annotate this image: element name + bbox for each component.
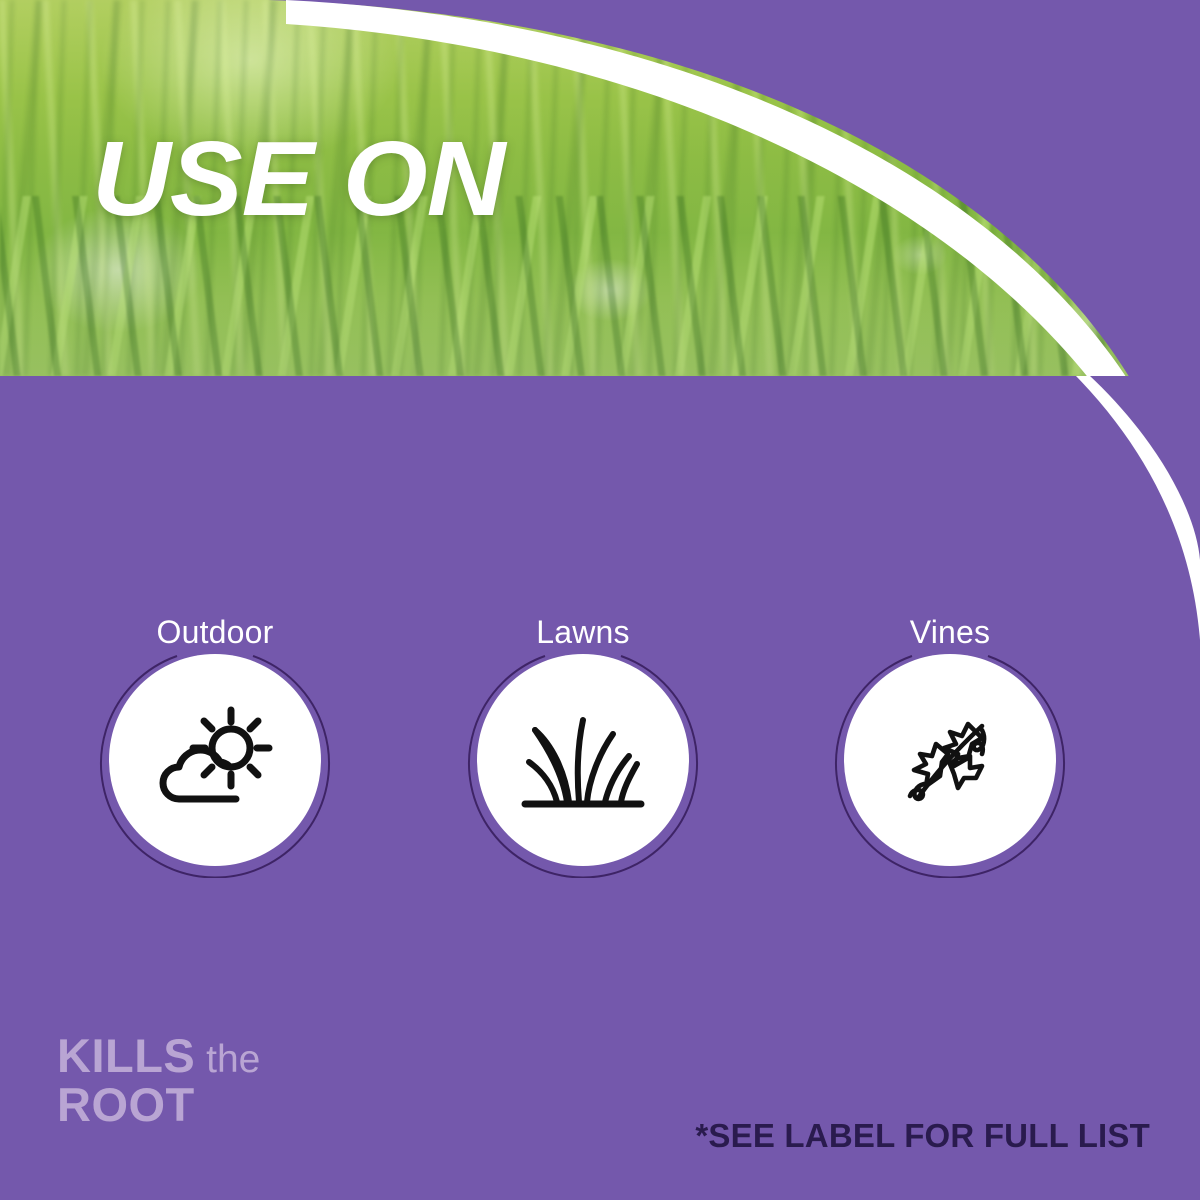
- page-title: USE ON: [92, 126, 504, 232]
- white-arc-band-lower: [1076, 376, 1200, 640]
- lawns-icon-disc: [477, 654, 689, 866]
- use-on-item-vines[interactable]: Vines: [800, 612, 1100, 892]
- grass-blades-icon: [519, 704, 647, 816]
- use-on-item-outdoor[interactable]: Outdoor: [65, 612, 365, 892]
- product-feature-poster: USE ON: [0, 0, 1200, 1200]
- use-on-label-outdoor: Outdoor: [65, 612, 365, 652]
- sun-behind-cloud-icon: [150, 704, 280, 816]
- use-on-icon-row: Outdoor Lawns: [0, 612, 1200, 892]
- ivy-vine-leaves-icon: [898, 708, 1002, 812]
- claim-line1-light: the: [195, 1038, 260, 1081]
- use-on-label-lawns: Lawns: [433, 612, 733, 652]
- claim-line1-strong: KILLS: [57, 1029, 195, 1082]
- outdoor-icon-disc: [109, 654, 321, 866]
- footnote-see-label: *SEE LABEL FOR FULL LIST: [695, 1117, 1150, 1155]
- use-on-label-vines: Vines: [800, 612, 1100, 652]
- kills-the-root-claim: KILLS the ROOT: [57, 1032, 260, 1130]
- vines-icon-disc: [844, 654, 1056, 866]
- claim-line2-strong: ROOT: [57, 1081, 260, 1130]
- use-on-item-lawns[interactable]: Lawns: [433, 612, 733, 892]
